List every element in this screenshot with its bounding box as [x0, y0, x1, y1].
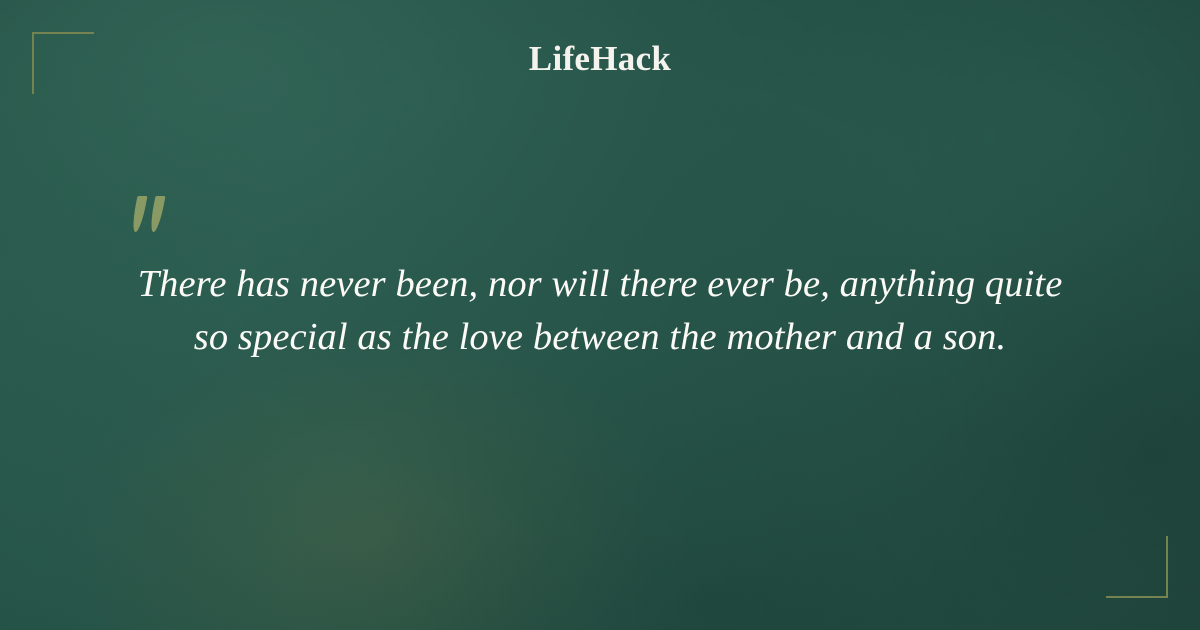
quote-line: There has never been, nor will there eve… — [100, 258, 1100, 311]
corner-bracket-bottom-right-icon — [1106, 536, 1168, 598]
quote-text: There has never been, nor will there eve… — [100, 258, 1100, 364]
quote-mark-stroke-left — [131, 196, 148, 232]
brand-logo: LifeHack — [0, 41, 1200, 76]
quote-mark-icon — [128, 186, 188, 238]
quote-mark-stroke-right — [149, 196, 166, 232]
quote-card: LifeHack There has never been, nor will … — [0, 0, 1200, 630]
brand-name-text: LifeHack — [529, 41, 671, 76]
quote-line: so special as the love between the mothe… — [100, 311, 1100, 364]
